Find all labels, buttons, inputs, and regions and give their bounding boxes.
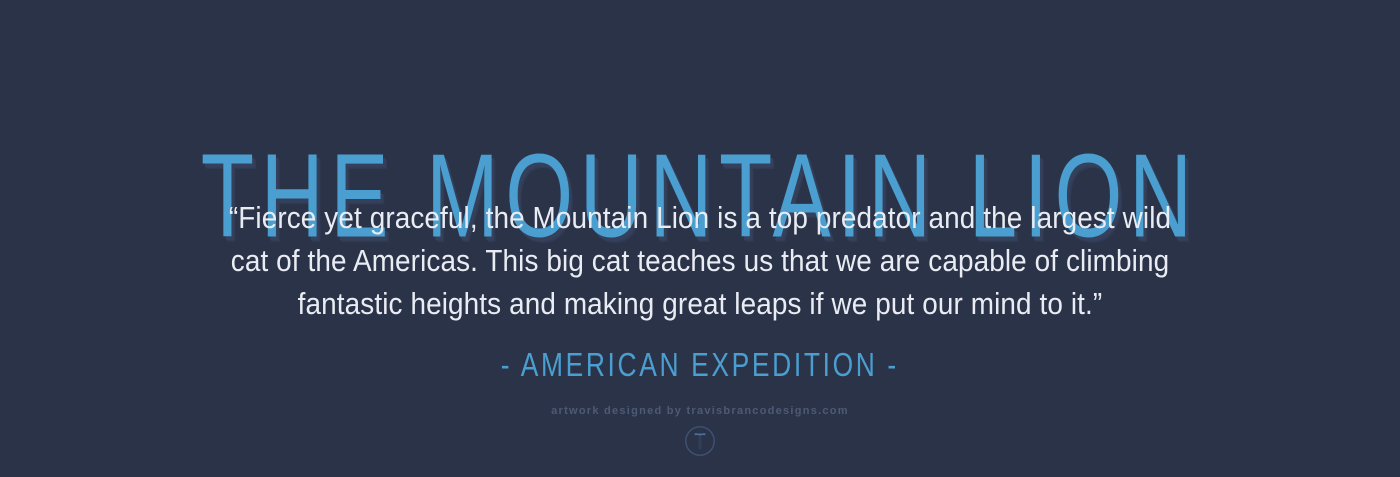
quote-line: “Fierce yet graceful, the Mountain Lion … — [70, 196, 1330, 239]
quote-line: cat of the Americas. This big cat teache… — [70, 239, 1330, 282]
poster-canvas: THE MOUNTAIN LION “Fierce yet graceful, … — [0, 0, 1400, 477]
attribution-block: - AMERICAN EXPEDITION - — [0, 348, 1400, 381]
quote-line: fantastic heights and making great leaps… — [70, 282, 1330, 325]
tb-monogram-logo-icon — [683, 424, 717, 458]
quote-block: “Fierce yet graceful, the Mountain Lion … — [0, 196, 1400, 325]
credit-text: artwork designed by travisbrancodesigns.… — [551, 406, 849, 417]
credit-block: artwork designed by travisbrancodesigns.… — [0, 401, 1400, 419]
attribution-text: - AMERICAN EXPEDITION - — [501, 348, 899, 381]
